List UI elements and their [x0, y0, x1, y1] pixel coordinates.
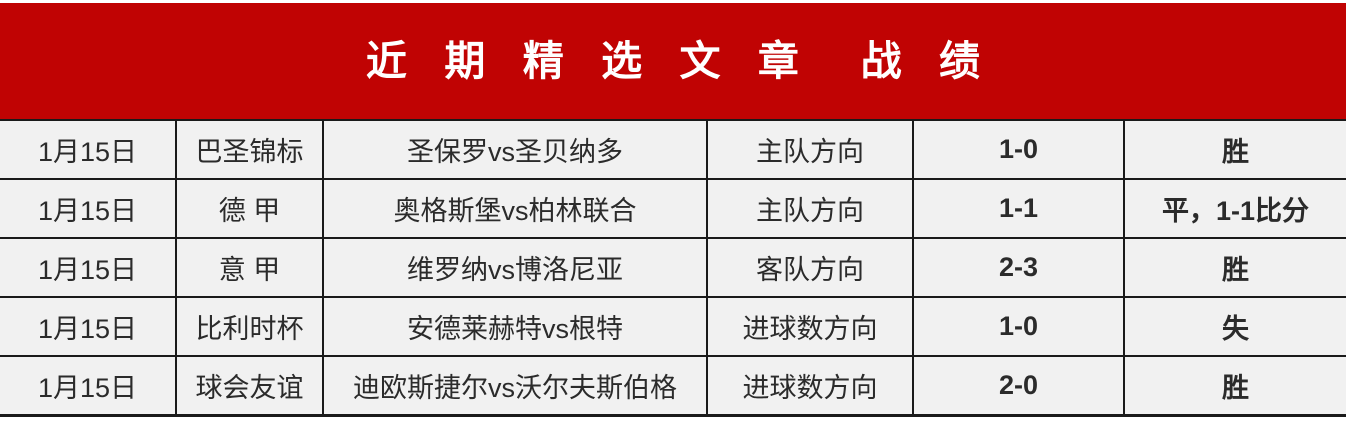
banner-header: 近 期 精 选 文 章 战 绩: [0, 3, 1346, 119]
cell-direction: 进球数方向: [707, 356, 913, 415]
cell-date: 1月15日: [0, 356, 176, 415]
cell-result: 平，1-1比分: [1124, 179, 1346, 238]
cell-league: 比利时杯: [176, 297, 323, 356]
cell-direction: 进球数方向: [707, 297, 913, 356]
results-page: 近 期 精 选 文 章 战 绩 1月15日 巴圣锦标 圣保罗vs圣贝纳多 主队方…: [0, 0, 1346, 422]
table-row: 1月15日 球会友谊 迪欧斯捷尔vs沃尔夫斯伯格 进球数方向 2-0 胜: [0, 356, 1346, 415]
cell-score: 1-0: [913, 120, 1124, 179]
cell-score: 1-1: [913, 179, 1124, 238]
cell-direction: 客队方向: [707, 238, 913, 297]
cell-result: 胜: [1124, 120, 1346, 179]
table-row: 1月15日 意 甲 维罗纳vs博洛尼亚 客队方向 2-3 胜: [0, 238, 1346, 297]
table-row: 1月15日 德 甲 奥格斯堡vs柏林联合 主队方向 1-1 平，1-1比分: [0, 179, 1346, 238]
cell-direction: 主队方向: [707, 120, 913, 179]
cell-score: 2-3: [913, 238, 1124, 297]
cell-league: 意 甲: [176, 238, 323, 297]
cell-score: 1-0: [913, 297, 1124, 356]
table-row: 1月15日 巴圣锦标 圣保罗vs圣贝纳多 主队方向 1-0 胜: [0, 120, 1346, 179]
cell-date: 1月15日: [0, 297, 176, 356]
cell-match: 维罗纳vs博洛尼亚: [323, 238, 707, 297]
recent-results-table: 1月15日 巴圣锦标 圣保罗vs圣贝纳多 主队方向 1-0 胜 1月15日 德 …: [0, 119, 1346, 417]
cell-league: 球会友谊: [176, 356, 323, 415]
cell-match: 奥格斯堡vs柏林联合: [323, 179, 707, 238]
cell-date: 1月15日: [0, 179, 176, 238]
cell-match: 安德莱赫特vs根特: [323, 297, 707, 356]
cell-result: 胜: [1124, 356, 1346, 415]
cell-result: 胜: [1124, 238, 1346, 297]
page-title: 近 期 精 选 文 章 战 绩: [353, 41, 993, 82]
cell-league: 巴圣锦标: [176, 120, 323, 179]
cell-match: 迪欧斯捷尔vs沃尔夫斯伯格: [323, 356, 707, 415]
cell-league: 德 甲: [176, 179, 323, 238]
cell-date: 1月15日: [0, 120, 176, 179]
cell-match: 圣保罗vs圣贝纳多: [323, 120, 707, 179]
table-row: 1月15日 比利时杯 安德莱赫特vs根特 进球数方向 1-0 失: [0, 297, 1346, 356]
cell-date: 1月15日: [0, 238, 176, 297]
cell-direction: 主队方向: [707, 179, 913, 238]
cell-score: 2-0: [913, 356, 1124, 415]
cell-result: 失: [1124, 297, 1346, 356]
